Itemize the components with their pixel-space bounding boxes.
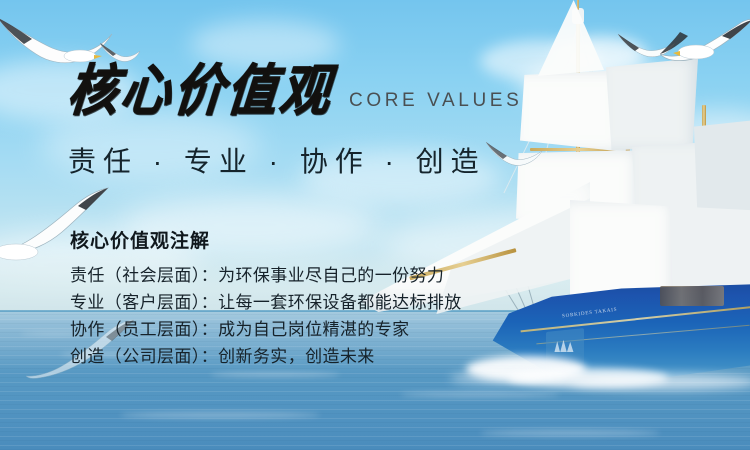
annotation-item: 创造（公司层面）：创新务实，创造未来: [70, 343, 462, 370]
page-title-english: CORE VALUES: [349, 90, 522, 112]
values-subtitle: 责任 · 专业 · 协作 · 创造: [68, 140, 486, 180]
annotation-item: 责任（社会层面）：为环保事业尽自己的一份努力: [70, 262, 462, 289]
annotation-list: 责任（社会层面）：为环保事业尽自己的一份努力 专业（客户层面）：让每一套环保设备…: [70, 262, 462, 370]
text-content: 核心价值观 CORE VALUES 责任 · 专业 · 协作 · 创造 核心价值…: [0, 0, 750, 450]
annotation-item: 专业（客户层面）：让每一套环保设备都能达标排放: [70, 289, 462, 316]
annotation-item: 协作（员工层面）：成为自己岗位精湛的专家: [70, 316, 462, 343]
title-row: 核心价值观 CORE VALUES: [68, 66, 522, 116]
core-values-banner: SORKIDES TAKAIS: [0, 0, 750, 450]
page-title: 核心价值观: [66, 64, 336, 119]
annotation-heading: 核心价值观注解: [70, 226, 210, 253]
